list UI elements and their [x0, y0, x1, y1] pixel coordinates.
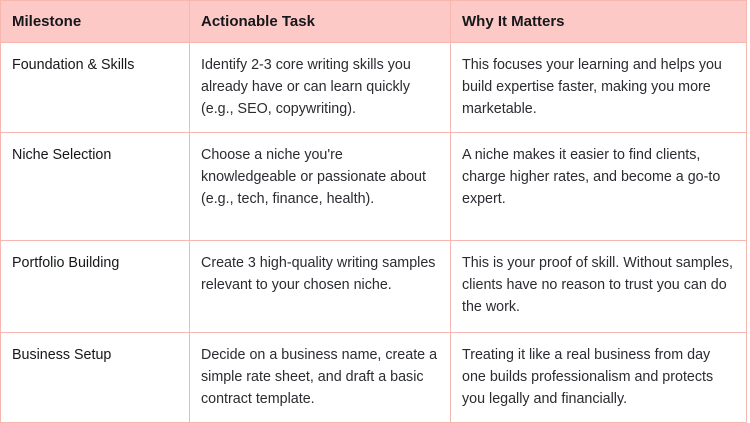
table-header: Milestone Actionable Task Why It Matters — [1, 1, 747, 43]
cell-actionable-task: Choose a niche you're knowledgeable or p… — [190, 133, 451, 241]
cell-actionable-task: Decide on a business name, create a simp… — [190, 333, 451, 423]
table-row: Foundation & Skills Identify 2-3 core wr… — [1, 43, 747, 133]
table-body: Foundation & Skills Identify 2-3 core wr… — [1, 43, 747, 423]
cell-why-it-matters: Treating it like a real business from da… — [451, 333, 747, 423]
table-row: Niche Selection Choose a niche you're kn… — [1, 133, 747, 241]
table-row: Portfolio Building Create 3 high-quality… — [1, 241, 747, 333]
cell-milestone: Foundation & Skills — [1, 43, 190, 133]
cell-milestone: Portfolio Building — [1, 241, 190, 333]
milestone-table-container: Milestone Actionable Task Why It Matters… — [0, 0, 746, 423]
cell-actionable-task: Create 3 high-quality writing samples re… — [190, 241, 451, 333]
cell-why-it-matters: This focuses your learning and helps you… — [451, 43, 747, 133]
column-header-why-it-matters: Why It Matters — [451, 1, 747, 43]
cell-milestone: Business Setup — [1, 333, 190, 423]
milestone-table: Milestone Actionable Task Why It Matters… — [0, 0, 747, 423]
column-header-milestone: Milestone — [1, 1, 190, 43]
cell-milestone: Niche Selection — [1, 133, 190, 241]
cell-actionable-task: Identify 2-3 core writing skills you alr… — [190, 43, 451, 133]
table-row: Business Setup Decide on a business name… — [1, 333, 747, 423]
table-header-row: Milestone Actionable Task Why It Matters — [1, 1, 747, 43]
cell-why-it-matters: A niche makes it easier to find clients,… — [451, 133, 747, 241]
column-header-actionable-task: Actionable Task — [190, 1, 451, 43]
cell-why-it-matters: This is your proof of skill. Without sam… — [451, 241, 747, 333]
